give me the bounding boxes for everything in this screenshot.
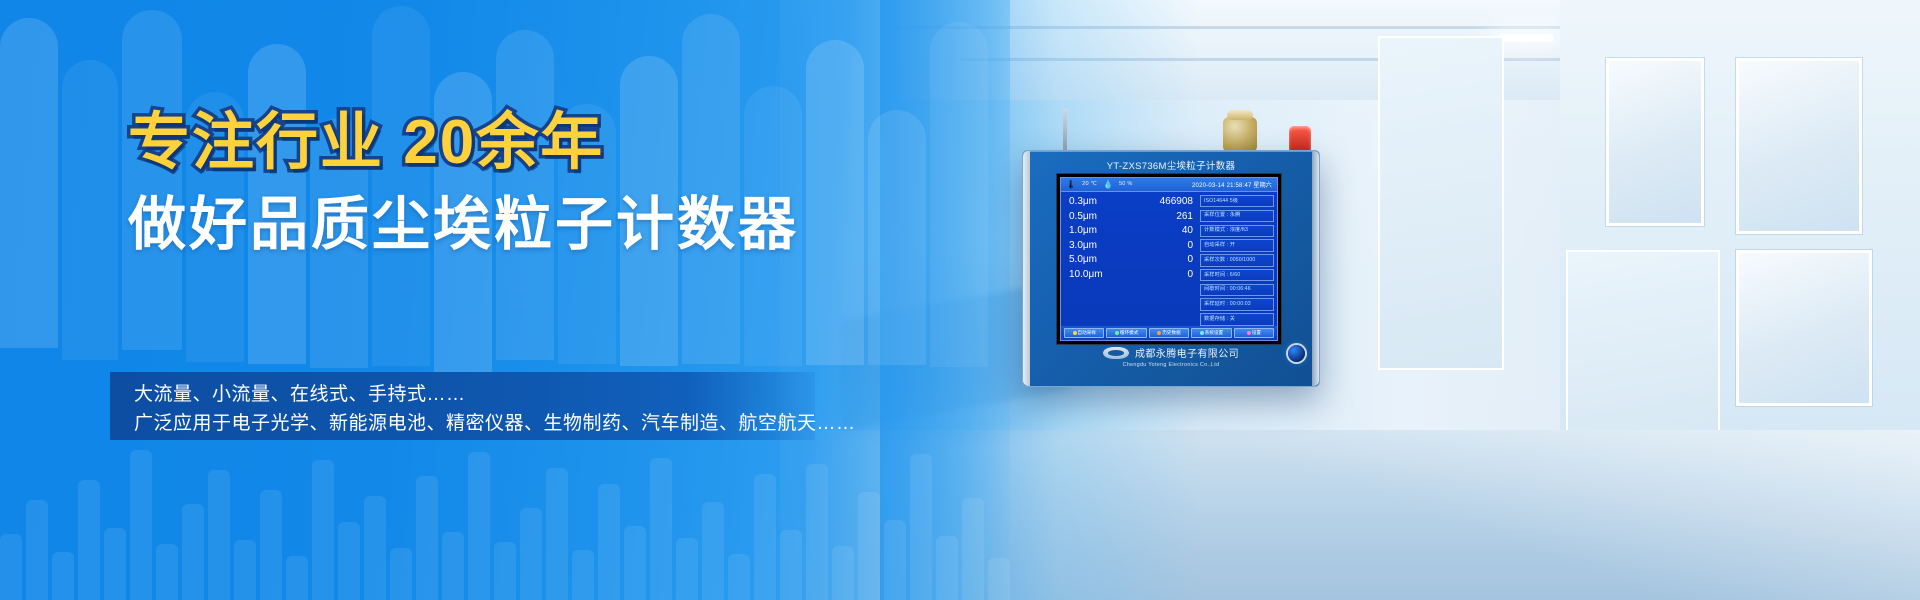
particle-size: 0.5μm	[1069, 212, 1097, 222]
datetime-value: 2020-03-14 21:58:47 星期六	[1192, 180, 1272, 189]
device-screen-bezel: 🌡 20 ℃ 💧 50 % 2020-03-14 21:58:47 星期六 0.…	[1056, 173, 1282, 345]
corridor-window	[1736, 58, 1862, 234]
setting-row[interactable]: 采样延时 : 00:00:03	[1200, 298, 1274, 310]
temperature-value: 20 ℃	[1082, 182, 1097, 188]
particle-size: 0.3μm	[1069, 197, 1097, 207]
lcd-status-bar: 🌡 20 ℃ 💧 50 % 2020-03-14 21:58:47 星期六	[1061, 178, 1277, 192]
headline-primary: 专注行业 20余年	[128, 112, 888, 174]
headline-secondary: 做好品质尘埃粒子计数器	[128, 196, 888, 254]
device-branding: 成都永腾电子有限公司 Chengdu Yoteng Electronics Co…	[1023, 345, 1319, 368]
lcd-button-system-settings[interactable]: 系统设置	[1191, 328, 1231, 338]
particle-row: 0.3μm 466908	[1069, 197, 1193, 207]
particle-size: 10.0μm	[1069, 270, 1103, 280]
particle-counter-device: YT-ZXS736M尘埃粒子计数器 🌡 20 ℃ 💧 50 % 2020-03-…	[1022, 150, 1320, 387]
corridor-panel	[1566, 250, 1720, 434]
brand-name-cn: 成都永腾电子有限公司	[1135, 345, 1239, 360]
lcd-button-auto-sample[interactable]: 自动采样	[1064, 328, 1104, 338]
setting-row[interactable]: ISO14644 5级	[1200, 195, 1274, 207]
status-dot-icon	[1157, 331, 1161, 335]
particle-count: 0	[1187, 241, 1193, 251]
particle-readings-panel: 0.3μm 466908 0.5μm 261 1.0μm 40 3.0μm	[1061, 192, 1199, 340]
lcd-button-label: 历史数据	[1162, 331, 1180, 336]
setting-row[interactable]: 采样时间 : 6/60	[1200, 269, 1274, 281]
corridor-panel	[1736, 250, 1872, 406]
setting-row[interactable]: 自动采样 : 开	[1200, 239, 1274, 251]
lcd-button-settings[interactable]: 设置	[1234, 328, 1274, 338]
lcd-button-bar: 自动采样 循环模式 历史数据 系统设置	[1061, 326, 1277, 340]
status-dot-icon	[1247, 331, 1251, 335]
particle-row: 0.5μm 261	[1069, 212, 1193, 222]
lcd-body: 0.3μm 466908 0.5μm 261 1.0μm 40 3.0μm	[1061, 192, 1277, 340]
setting-row[interactable]: 采样位置 : 永腾	[1200, 210, 1274, 222]
lcd-button-label: 设置	[1252, 331, 1261, 336]
particle-size: 3.0μm	[1069, 241, 1097, 251]
lcd-button-loop-mode[interactable]: 循环模式	[1106, 328, 1146, 338]
setting-row[interactable]: 数据存储 : 关	[1200, 313, 1274, 325]
corridor-window	[1606, 58, 1704, 226]
lcd-button-label: 自动采样	[1078, 331, 1096, 336]
particle-count: 466908	[1160, 197, 1193, 207]
banner-copy: 专注行业 20余年 做好品质尘埃粒子计数器	[128, 112, 888, 254]
corridor-door	[1378, 36, 1504, 370]
status-dot-icon	[1200, 331, 1204, 335]
lcd-button-label: 循环模式	[1120, 331, 1138, 336]
setting-row[interactable]: 计数模式 : 浓度/ft3	[1200, 225, 1274, 237]
power-indicator-icon[interactable]	[1288, 345, 1305, 362]
device-alarm-beacon	[1289, 126, 1311, 151]
setting-row[interactable]: 间歇时间 : 00:06:46	[1200, 284, 1274, 296]
particle-count: 40	[1182, 226, 1193, 236]
lcd-button-history[interactable]: 历史数据	[1149, 328, 1189, 338]
particle-row: 3.0μm 0	[1069, 241, 1193, 251]
particle-row: 5.0μm 0	[1069, 255, 1193, 265]
brand-name-en: Chengdu Yoteng Electronics Co.,Ltd	[1023, 362, 1319, 368]
particle-count: 0	[1187, 255, 1193, 265]
lcd-display: 🌡 20 ℃ 💧 50 % 2020-03-14 21:58:47 星期六 0.…	[1060, 177, 1278, 341]
device-antenna	[1063, 108, 1067, 152]
thermometer-icon: 🌡	[1066, 181, 1076, 189]
particle-row: 1.0μm 40	[1069, 226, 1193, 236]
particle-count: 0	[1187, 270, 1193, 280]
device-model-title: YT-ZXS736M尘埃粒子计数器	[1023, 158, 1319, 172]
subtext-line-1: 大流量、小流量、在线式、手持式……	[134, 385, 466, 404]
subtext-line-2: 广泛应用于电子光学、新能源电池、精密仪器、生物制药、汽车制造、航空航天……	[134, 414, 856, 433]
humidity-value: 50 %	[1119, 182, 1133, 188]
status-dot-icon	[1115, 331, 1119, 335]
settings-panel: ISO14644 5级 采样位置 : 永腾 计数模式 : 浓度/ft3 自动采样…	[1199, 192, 1277, 340]
device-inlet-knob[interactable]	[1223, 117, 1257, 151]
particle-row: 10.0μm 0	[1069, 270, 1193, 280]
yoteng-logo-icon	[1103, 347, 1129, 359]
lcd-button-label: 系统设置	[1205, 331, 1223, 336]
banner-stage: 专注行业 20余年 做好品质尘埃粒子计数器 大流量、小流量、在线式、手持式…… …	[0, 0, 1920, 600]
ceiling-lamp	[1498, 34, 1554, 42]
particle-count: 261	[1176, 212, 1193, 222]
particle-size: 5.0μm	[1069, 255, 1097, 265]
water-drop-icon: 💧	[1103, 181, 1113, 189]
particle-size: 1.0μm	[1069, 226, 1097, 236]
floor-reflection	[1180, 430, 1920, 600]
subtext-box: 大流量、小流量、在线式、手持式…… 广泛应用于电子光学、新能源电池、精密仪器、生…	[110, 372, 815, 440]
status-dot-icon	[1073, 331, 1077, 335]
setting-row[interactable]: 采样次数 : 0050/1000	[1200, 254, 1274, 266]
